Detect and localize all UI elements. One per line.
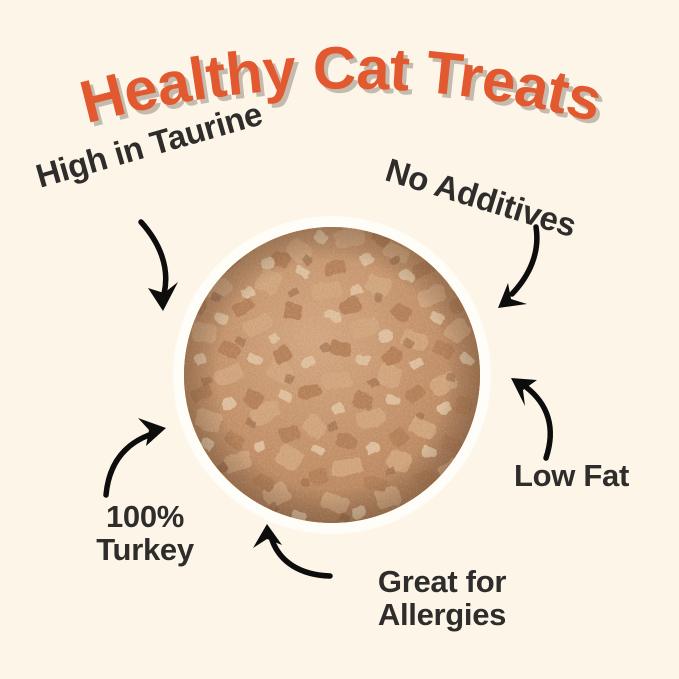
- feature-label-great-for-allergies: Great for Allergies: [352, 565, 532, 632]
- infographic-poster: Healthy Cat Treats Healthy Cat Treats: [0, 0, 679, 679]
- page-title: Healthy Cat Treats Healthy Cat Treats: [0, 36, 679, 146]
- feature-label-no-additives: No Additives: [382, 152, 581, 244]
- arrow-low-fat-icon: [511, 378, 550, 458]
- feature-label-low-fat: Low Fat: [514, 459, 629, 492]
- arrow-no-additives-icon: [498, 227, 537, 308]
- page-title-text-layer: Healthy Cat Treats: [73, 34, 608, 136]
- arrow-100-percent-turkey-icon: [106, 418, 166, 495]
- cat-treat-kibble-photo: [184, 227, 480, 523]
- page-title-text: Healthy Cat Treats: [73, 34, 608, 136]
- kibble-texture: [184, 227, 480, 523]
- arrow-high-in-taurine-icon: [141, 222, 178, 311]
- feature-label-100-percent-turkey: 100% Turkey: [70, 500, 220, 567]
- feature-label-high-in-taurine: High in Taurine: [32, 96, 266, 195]
- center-photo-ring: [174, 217, 490, 533]
